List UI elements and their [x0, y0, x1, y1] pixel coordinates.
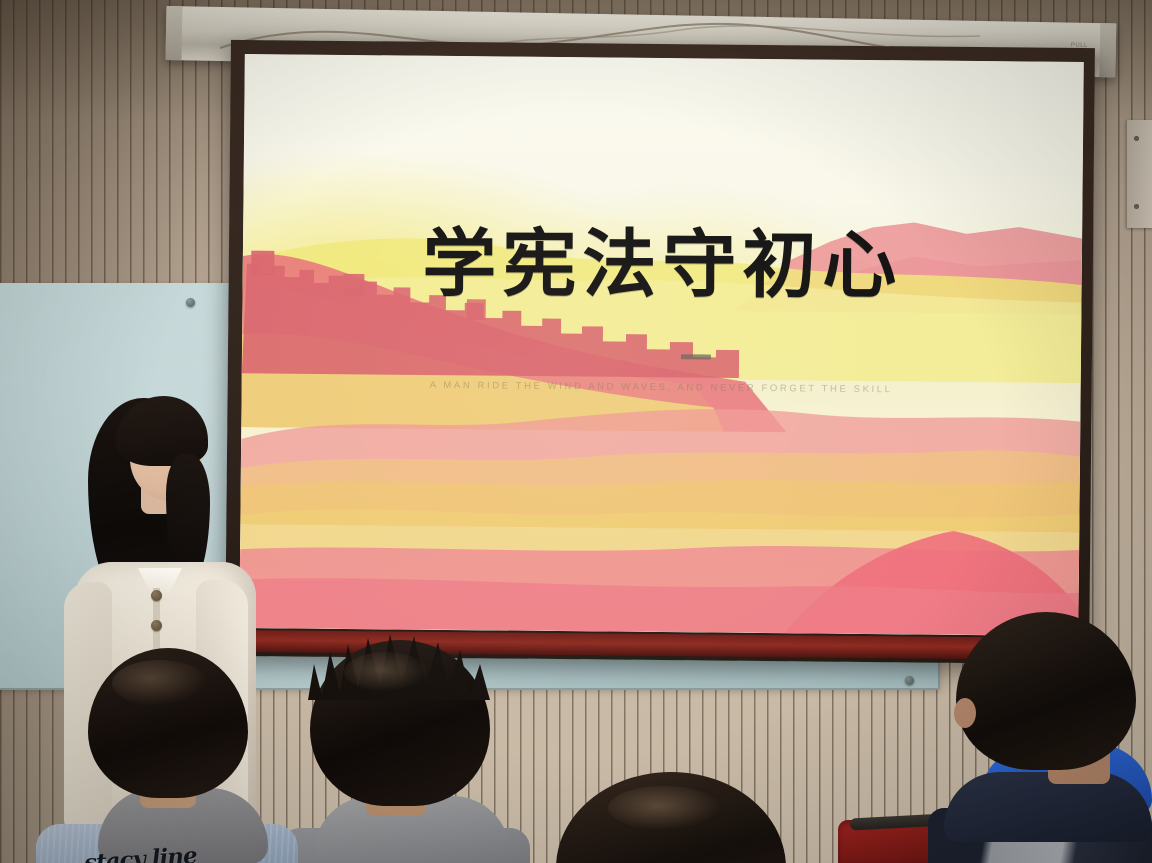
slide-title: 学宪法守初心	[243, 226, 1082, 304]
slide-foreground-mound	[239, 467, 1080, 636]
roller-end-cap-right	[1099, 23, 1116, 77]
blackboard-screw	[186, 298, 195, 307]
student-center-left	[280, 630, 530, 863]
student-head	[956, 612, 1136, 770]
projection-screen[interactable]: 学宪法守初心 A MAN RIDE THE WIND AND WAVES, AN…	[225, 40, 1095, 664]
blackboard-screw	[905, 676, 914, 685]
wall-bracket	[1126, 120, 1152, 228]
student-hair-highlight	[112, 660, 208, 706]
teacher-button	[151, 590, 162, 601]
bracket-screw	[1134, 204, 1139, 209]
student-left: stacy line	[36, 648, 298, 863]
student-right	[928, 612, 1152, 863]
student-hood	[944, 772, 1152, 842]
teacher-button	[151, 620, 162, 631]
classroom-photo: PULL	[0, 0, 1152, 863]
student-center-bottom	[556, 772, 786, 863]
slide-title-underscore	[681, 354, 711, 359]
student-ear	[954, 698, 976, 728]
bracket-screw	[1134, 136, 1139, 141]
student-hair-highlight	[344, 652, 428, 692]
screen-surface: 学宪法守初心 A MAN RIDE THE WIND AND WAVES, AN…	[239, 54, 1083, 636]
student-hair-highlight	[608, 786, 720, 830]
roller-end-cap-left	[166, 6, 183, 60]
